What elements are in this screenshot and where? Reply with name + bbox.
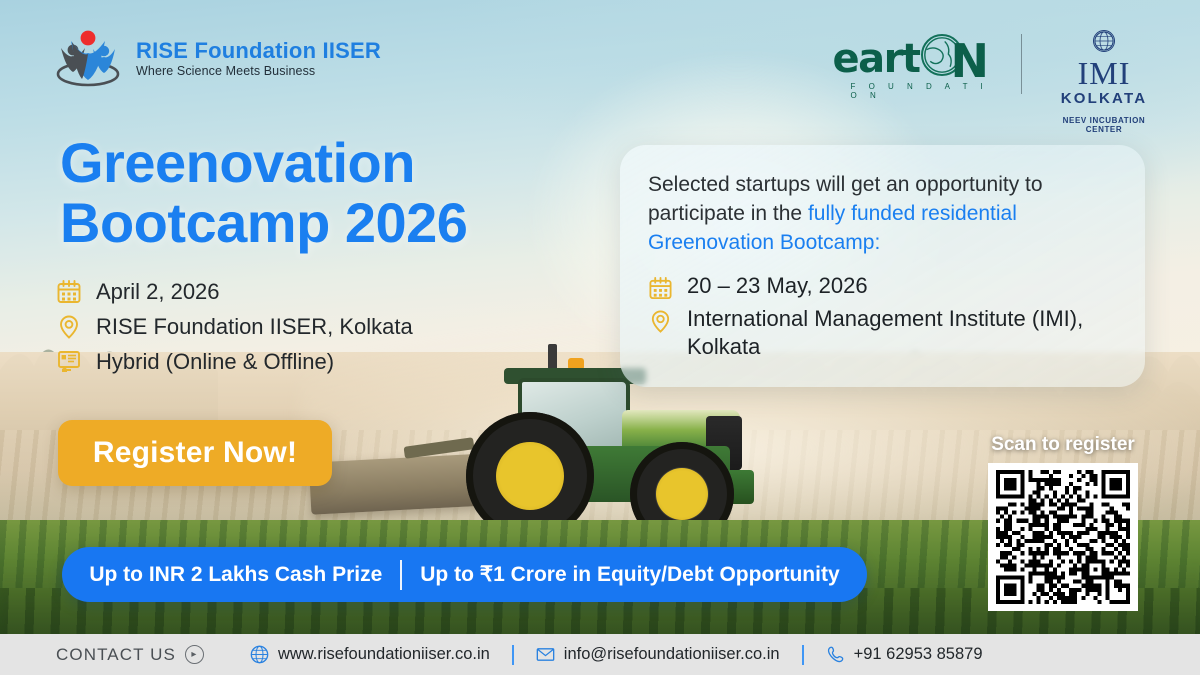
- footer-separator: [512, 645, 514, 665]
- contact-us-label: CONTACT US ▸: [56, 645, 204, 665]
- imi-letters: IMI: [1044, 58, 1164, 88]
- card-paragraph: Selected startups will get an opportunit…: [648, 171, 1117, 258]
- imi-kolkata-logo: IMI KOLKATA NEEV INCUBATION CENTER: [1044, 30, 1164, 134]
- logo-divider: [1021, 34, 1023, 94]
- title-line-2: Bootcamp 2026: [60, 193, 620, 253]
- partner-logos: eart N F O U N D A T I O N IMI KOLKATA: [833, 30, 1165, 134]
- prize-divider: [400, 560, 402, 590]
- title-line-1: Greenovation: [60, 133, 620, 193]
- arrow-right-circle-icon: ▸: [185, 645, 204, 664]
- page-title: Greenovation Bootcamp 2026: [60, 133, 620, 253]
- footer-email[interactable]: info@risefoundationiiser.co.in: [536, 645, 780, 664]
- rise-logo-tagline: Where Science Meets Business: [136, 65, 381, 78]
- footer-email-text: info@risefoundationiiser.co.in: [564, 645, 780, 664]
- rise-people-logo-icon: [52, 28, 124, 90]
- rise-logo-text: RISE Foundation IISER Where Science Meet…: [136, 39, 381, 78]
- event-details-list: April 2, 2026 RISE Foundation IISER, Kol…: [56, 274, 413, 379]
- imi-city: KOLKATA: [1044, 90, 1164, 107]
- envelope-icon: [536, 645, 555, 664]
- footer-contact-bar: CONTACT US ▸ www.risefoundationiiser.co.…: [0, 634, 1200, 675]
- footer-website-text: www.risefoundationiiser.co.in: [278, 645, 490, 664]
- prize-cash-text: Up to INR 2 Lakhs Cash Prize: [89, 563, 382, 587]
- event-detail-text: April 2, 2026: [96, 279, 220, 305]
- rise-logo-title: RISE Foundation IISER: [136, 39, 381, 62]
- event-detail-text: Hybrid (Online & Offline): [96, 349, 334, 375]
- footer-separator: [802, 645, 804, 665]
- footer-phone[interactable]: +91 62953 85879: [826, 645, 983, 664]
- card-detail-text: International Management Institute (IMI)…: [687, 305, 1117, 360]
- card-details-list: 20 – 23 May, 2026 International Manageme…: [648, 272, 1117, 360]
- bootcamp-info-card: Selected startups will get an opportunit…: [620, 145, 1145, 387]
- globe-icon: [1093, 30, 1115, 52]
- rise-foundation-logo: RISE Foundation IISER Where Science Meet…: [52, 28, 381, 90]
- calendar-icon: [648, 276, 673, 301]
- qr-code-container[interactable]: [988, 463, 1138, 611]
- poster-canvas: RISE Foundation IISER Where Science Meet…: [0, 0, 1200, 675]
- tractor-implement: [309, 453, 491, 514]
- qr-section: Scan to register: [983, 434, 1143, 611]
- footer-phone-text: +91 62953 85879: [854, 645, 983, 664]
- event-detail-venue: RISE Foundation IISER, Kolkata: [56, 309, 413, 344]
- card-detail-text: 20 – 23 May, 2026: [687, 272, 868, 300]
- earthon-wordmark: eart N: [833, 36, 999, 80]
- contact-us-text: CONTACT US: [56, 645, 176, 665]
- register-now-button[interactable]: Register Now!: [58, 420, 332, 486]
- phone-icon: [826, 645, 845, 664]
- event-detail-text: RISE Foundation IISER, Kolkata: [96, 314, 413, 340]
- card-detail-dates: 20 – 23 May, 2026: [648, 272, 1117, 301]
- prize-equity-text: Up to ₹1 Crore in Equity/Debt Opportunit…: [420, 562, 839, 587]
- location-pin-icon: [56, 314, 82, 340]
- qr-label: Scan to register: [983, 434, 1143, 456]
- prize-banner: Up to INR 2 Lakhs Cash Prize Up to ₹1 Cr…: [62, 547, 867, 602]
- event-detail-mode: Hybrid (Online & Offline): [56, 344, 413, 379]
- earthon-n-letter: N: [951, 34, 990, 88]
- globe-icon: [250, 645, 269, 664]
- hybrid-monitor-icon: [56, 349, 82, 375]
- footer-website[interactable]: www.risefoundationiiser.co.in: [250, 645, 490, 664]
- calendar-icon: [56, 279, 82, 305]
- earthon-text: eart: [833, 36, 920, 82]
- qr-code-icon[interactable]: [995, 470, 1131, 604]
- event-detail-date: April 2, 2026: [56, 274, 413, 309]
- imi-incubation-center: NEEV INCUBATION CENTER: [1044, 116, 1164, 134]
- earthon-foundation-logo: eart N F O U N D A T I O N: [833, 30, 999, 100]
- location-pin-icon: [648, 309, 673, 334]
- card-detail-venue: International Management Institute (IMI)…: [648, 305, 1117, 360]
